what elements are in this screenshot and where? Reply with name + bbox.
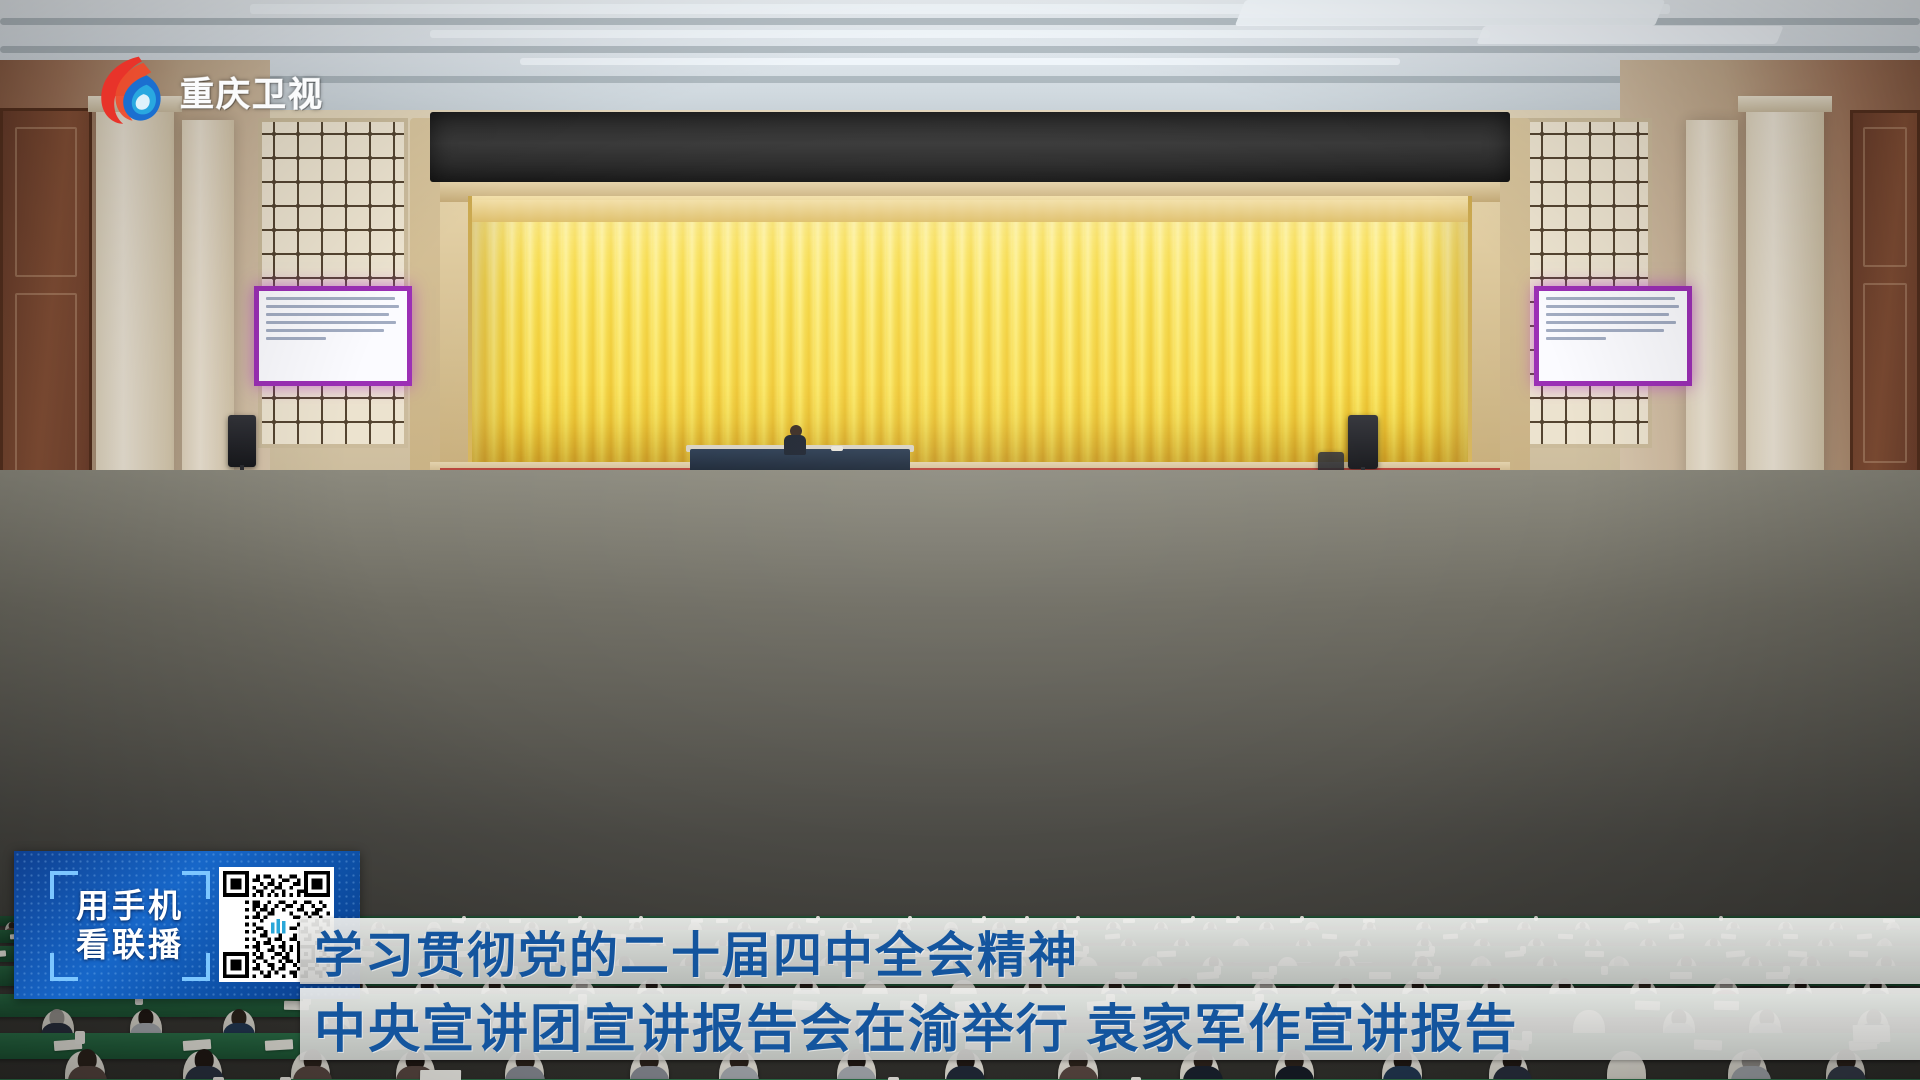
qr-panel-line1: 用手机 <box>76 889 184 924</box>
headline-line-2: 中央宣讲团宣讲报告会在渝举行 袁家军作宣讲报告 <box>314 987 1518 1062</box>
pillar-left <box>96 104 174 504</box>
speaker-body <box>784 435 806 455</box>
pillar-right-2 <box>1686 120 1738 500</box>
pillar-right-cap <box>1738 96 1832 112</box>
headline-line-2-band: 中央宣讲团宣讲报告会在渝举行 袁家军作宣讲报告 <box>300 988 1920 1060</box>
projection-screen-right <box>1534 286 1692 386</box>
stage-speaker-person <box>784 425 806 453</box>
headline-line-1-band: 学习贯彻党的二十届四中全会精神 <box>300 918 1920 984</box>
qr-panel-text: 用手机 看联播 <box>52 877 208 975</box>
qr-panel-line2: 看联播 <box>76 928 184 963</box>
right-door <box>1850 110 1920 480</box>
slide-content-right <box>1539 291 1687 381</box>
stage-curtain <box>472 200 1468 482</box>
headline-line-1: 学习贯彻党的二十届四中全会精神 <box>314 916 1079 987</box>
cqtv-swoosh-logo-icon <box>92 52 170 130</box>
channel-name: 重庆卫视 <box>180 67 324 116</box>
lower-third: 用手机 看联播 <box>0 845 1920 1080</box>
projection-screen-left <box>254 286 412 386</box>
pillar-left-2 <box>182 120 234 500</box>
curtain-valance <box>472 196 1468 222</box>
broadcast-frame: 重庆卫视 用手机 看联播 <box>0 0 1920 1080</box>
proscenium-header-panel <box>430 112 1510 182</box>
channel-logo: 重庆卫视 <box>92 52 324 130</box>
pillar-right <box>1746 104 1824 504</box>
lattice-panel-left <box>258 118 408 448</box>
headline-block: 学习贯彻党的二十届四中全会精神 中央宣讲团宣讲报告会在渝举行 袁家军作宣讲报告 <box>300 918 1920 1060</box>
microphone-icon <box>831 446 843 451</box>
left-door <box>0 108 92 500</box>
slide-content-left <box>259 291 407 381</box>
